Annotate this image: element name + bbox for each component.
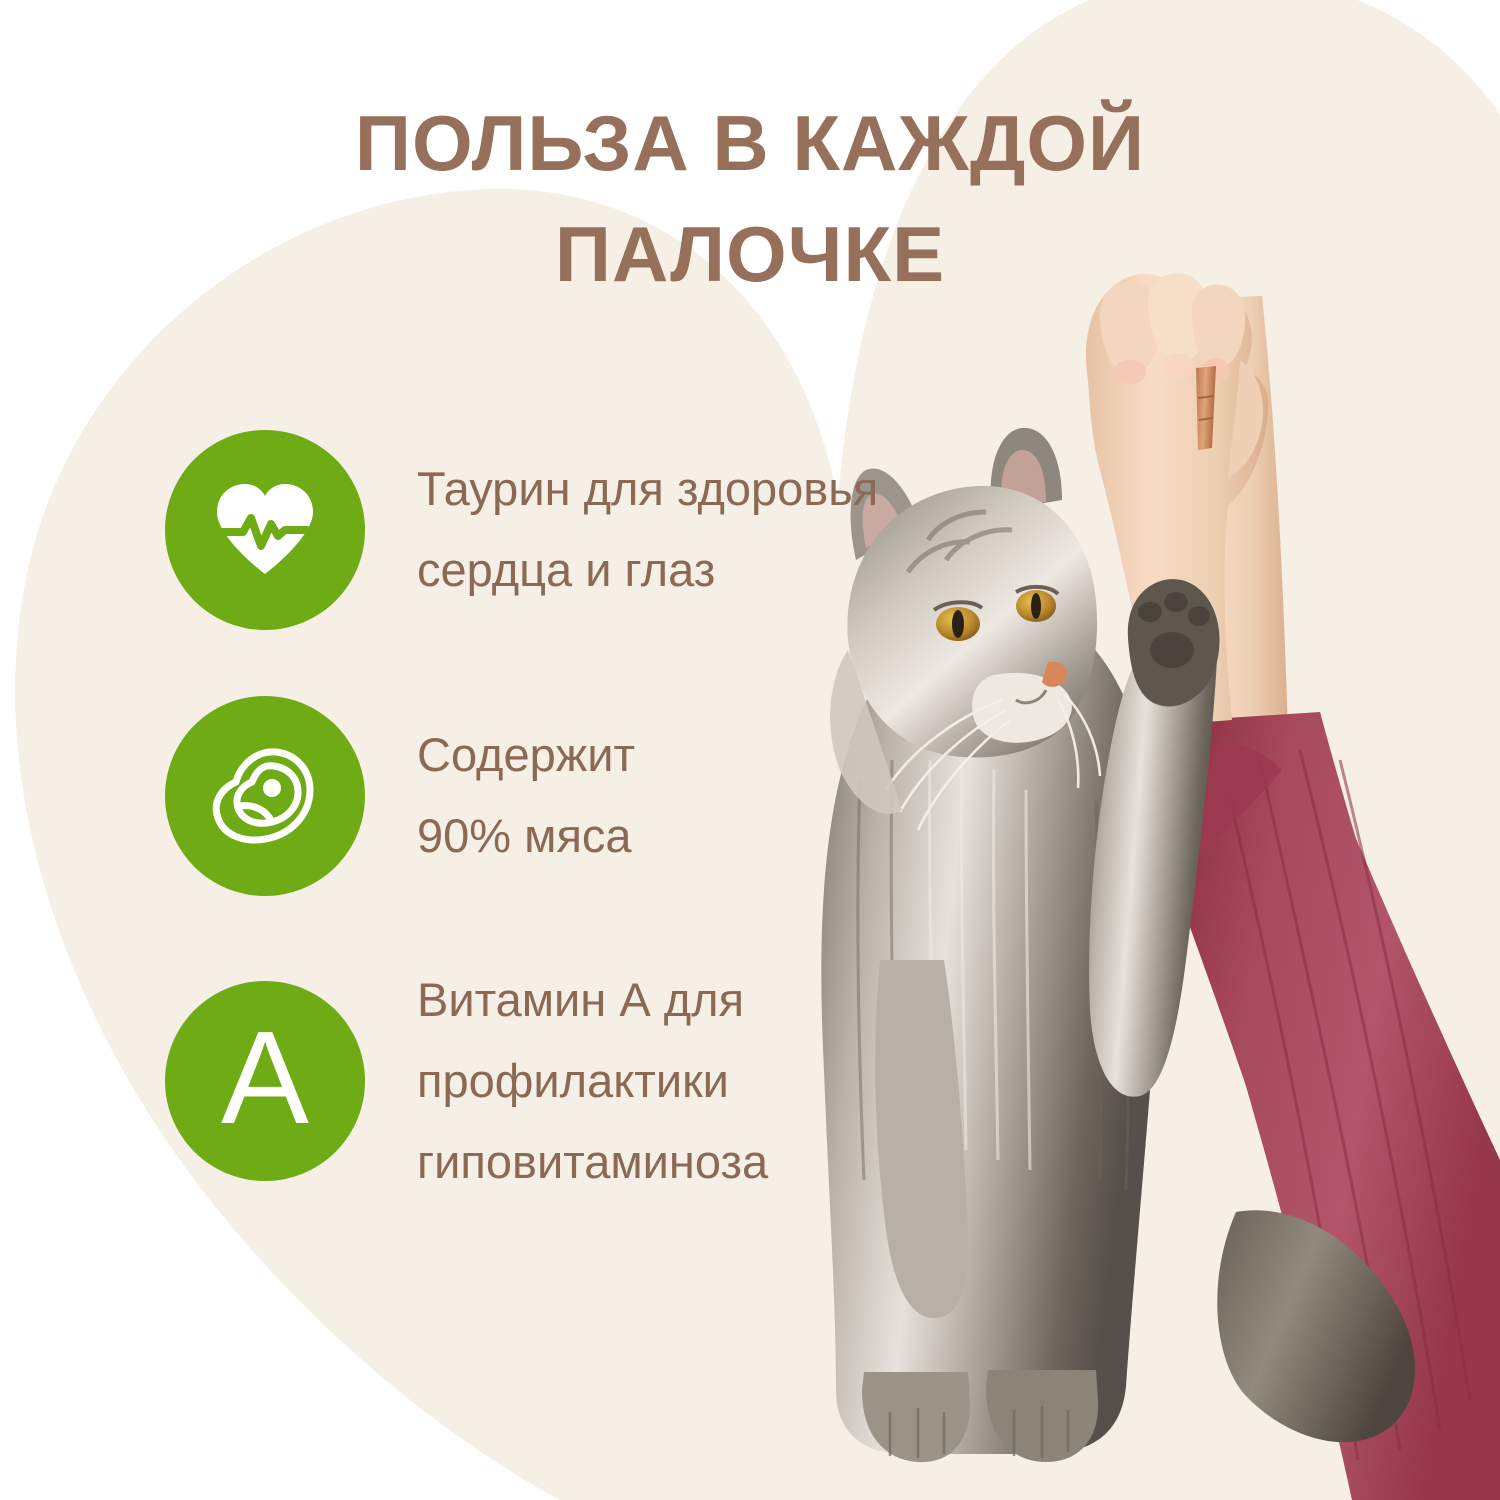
- benefit-text: Витамин А для профилактики гиповитаминоз…: [417, 960, 768, 1202]
- headline-line-2: ПАЛОЧКЕ: [180, 199, 1320, 310]
- page-title: ПОЛЬЗА В КАЖДОЙ ПАЛОЧКЕ: [180, 88, 1320, 310]
- headline-line-1: ПОЛЬЗА В КАЖДОЙ: [180, 88, 1320, 199]
- vitamin-a-icon: A: [165, 981, 365, 1181]
- benefit-item-vitamin-a: A Витамин А для профилактики гиповитамин…: [165, 960, 768, 1202]
- benefit-text: Содержит 90% мяса: [417, 715, 635, 877]
- benefit-text: Таурин для здоровья сердца и глаз: [417, 449, 878, 611]
- heartbeat-icon: [165, 430, 365, 630]
- vitamin-a-letter: A: [221, 1012, 309, 1144]
- benefit-item-meat: Содержит 90% мяса: [165, 696, 635, 896]
- promo-banner: ПОЛЬЗА В КАЖДОЙ ПАЛОЧКЕ Таурин для здоро…: [0, 0, 1500, 1500]
- benefit-item-taurine: Таурин для здоровья сердца и глаз: [165, 430, 878, 630]
- meat-steak-icon: [165, 696, 365, 896]
